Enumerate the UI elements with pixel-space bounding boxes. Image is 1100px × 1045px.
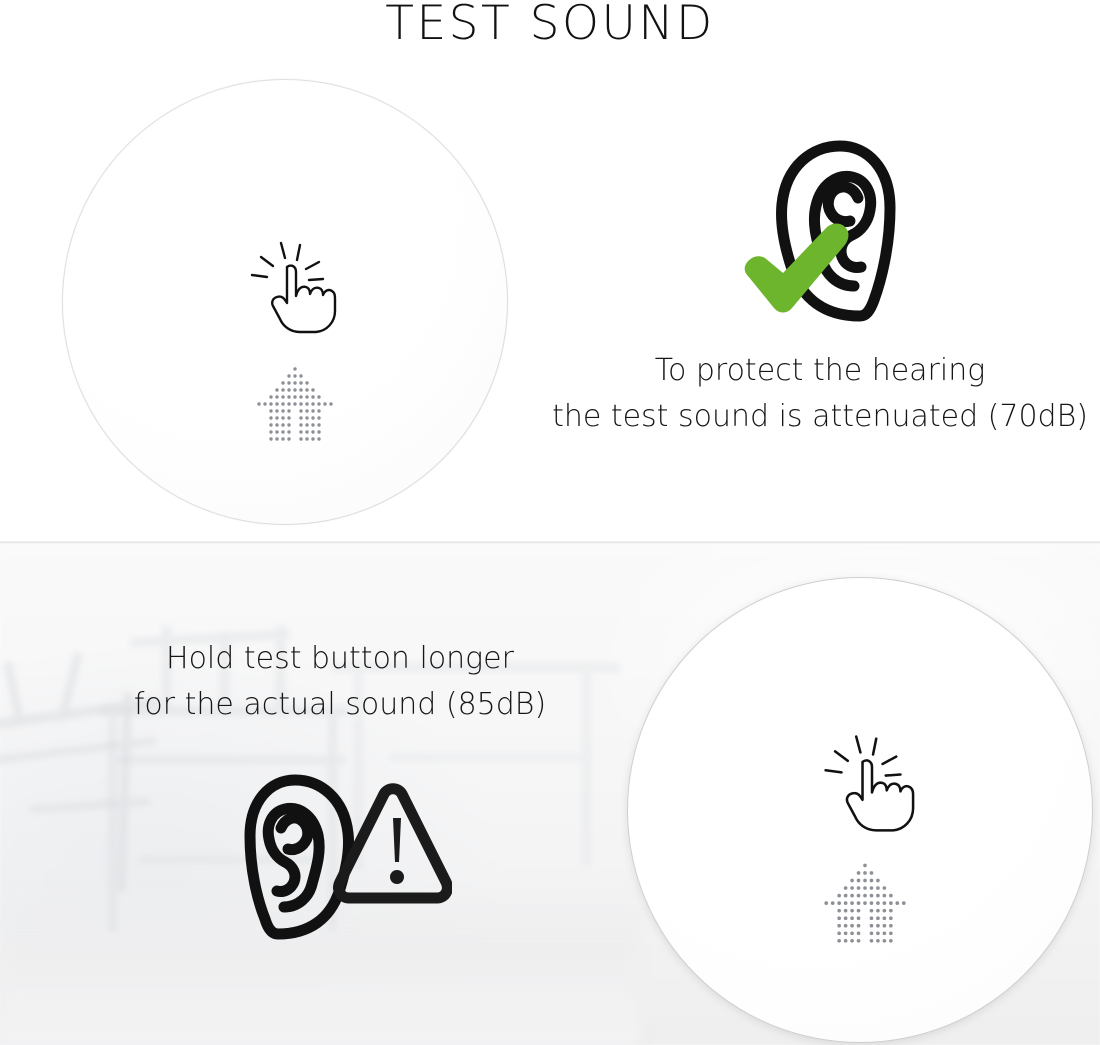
warning-triangle-icon [339,789,448,898]
dotted-house-icon [230,364,360,454]
smoke-detector-bottom[interactable] [627,577,1093,1043]
dotted-house-icon [795,860,935,957]
callout-hold-line2: for the actual sound (85dB) [60,682,620,728]
callout-hearing: To protect the hearing the test sound is… [540,348,1100,440]
callout-hearing-line2: the test sound is attenuated (70dB) [540,394,1100,440]
tap-hand-icon [813,732,931,836]
panel-top: TEST SOUND [0,0,1100,541]
ear-with-warning-group [232,762,452,946]
callout-hold: Hold test button longer for the actual s… [60,636,620,728]
test-sound-infographic: TEST SOUND [0,0,1100,1045]
callout-hearing-line1: To protect the hearing [540,348,1100,394]
page-title: TEST SOUND [0,0,1100,54]
ear-icon [250,780,349,934]
ear-with-check-group [742,136,912,330]
callout-hold-line1: Hold test button longer [60,636,620,682]
smoke-detector-top[interactable] [62,79,508,525]
green-check-icon [745,224,849,313]
tap-hand-icon [240,239,352,337]
